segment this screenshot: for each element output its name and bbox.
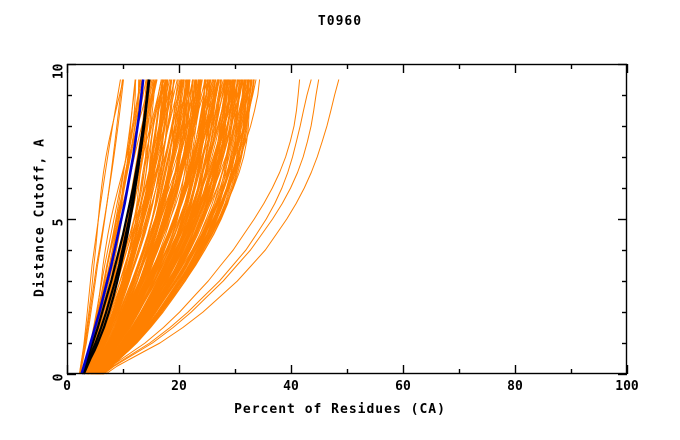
x-tick-label: 60 xyxy=(373,379,433,394)
x-tick-label: 80 xyxy=(485,379,545,394)
x-tick-label: 40 xyxy=(261,379,321,394)
y-tick-label: 10 xyxy=(52,64,67,104)
x-tick-label: 20 xyxy=(149,379,209,394)
chart-root: T0960 Distance Cutoff, A 020406080100 05… xyxy=(0,0,680,440)
plot-canvas xyxy=(0,0,680,440)
x-tick-label: 100 xyxy=(597,379,657,394)
x-axis-label: Percent of Residues (CA) xyxy=(0,402,680,417)
chart-title: T0960 xyxy=(0,14,680,29)
y-tick-label: 5 xyxy=(52,219,67,259)
y-axis-label: Distance Cutoff, A xyxy=(33,98,48,338)
x-tick-label: 0 xyxy=(37,379,97,394)
